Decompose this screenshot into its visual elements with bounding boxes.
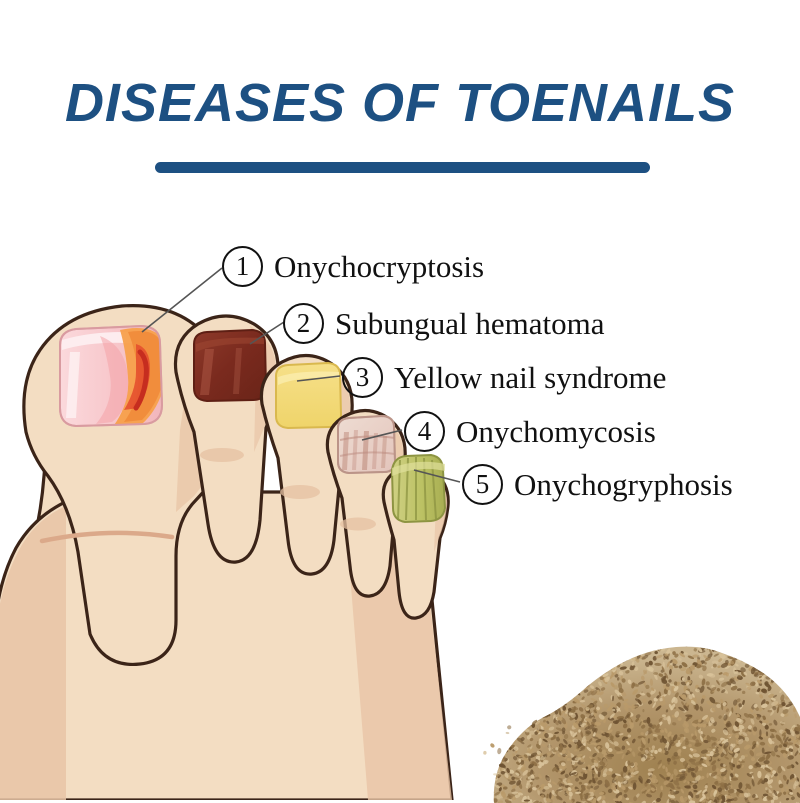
legend-item-4[interactable]: 4 Onychomycosis	[404, 411, 656, 452]
legend-number-4: 4	[404, 411, 445, 452]
legend-item-1[interactable]: 1 Onychocryptosis	[222, 246, 484, 287]
legend-label-1: Onychocryptosis	[274, 251, 484, 282]
legend-number-3: 3	[342, 357, 383, 398]
legend-label-2: Subungual hematoma	[335, 308, 604, 339]
legend-item-2[interactable]: 2 Subungual hematoma	[283, 303, 604, 344]
legend-list: 1 Onychocryptosis 2 Subungual hematoma 3…	[0, 0, 800, 800]
legend-number-2: 2	[283, 303, 324, 344]
legend-label-3: Yellow nail syndrome	[394, 362, 666, 393]
legend-item-3[interactable]: 3 Yellow nail syndrome	[342, 357, 666, 398]
legend-label-5: Onychogryphosis	[514, 469, 733, 500]
poster-canvas: DISEASES OF TOENAILS	[0, 0, 800, 800]
legend-number-1: 1	[222, 246, 263, 287]
legend-number-5: 5	[462, 464, 503, 505]
legend-label-4: Onychomycosis	[456, 416, 656, 447]
legend-item-5[interactable]: 5 Onychogryphosis	[462, 464, 733, 505]
